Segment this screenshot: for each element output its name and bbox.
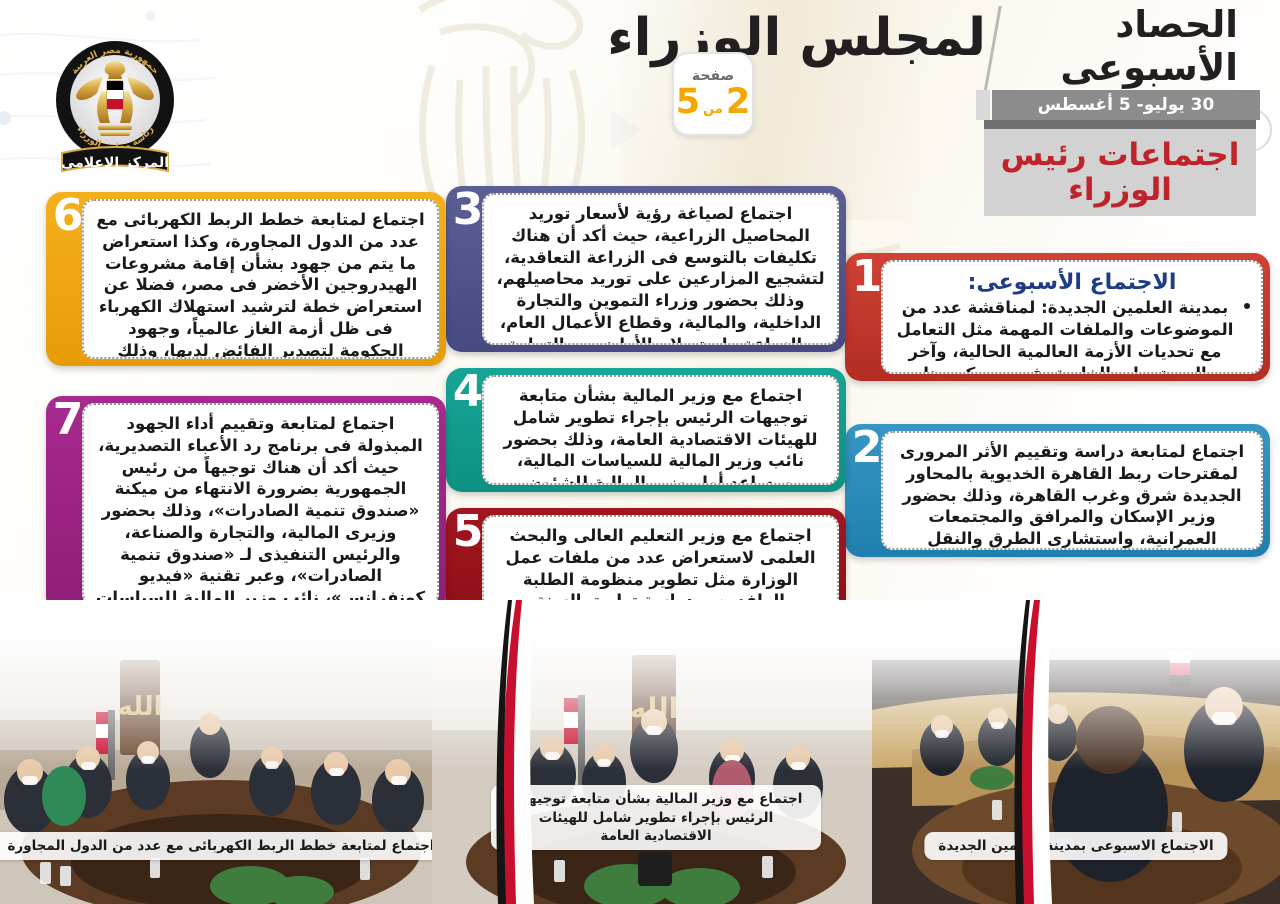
page-title: لمجلس الوزراء — [607, 8, 986, 68]
meeting-card-7-content: اجتماع لمتابعة وتقييم أداء الجهود المبذو… — [82, 403, 439, 606]
page-badge-numbers: 2 من 5 — [676, 85, 750, 120]
svg-text:الله: الله — [117, 692, 162, 722]
meeting-card-5-body: اجتماع مع وزير التعليم العالى والبحث الع… — [495, 525, 826, 611]
meeting-card-1-text: بمدينة العلمين الجديدة: لمناقشة عدد من ا… — [897, 298, 1234, 374]
egypt-eagle-emblem-icon: جمهورية مصر العربية رئاسة مجلس الوزراء — [40, 33, 190, 183]
meeting-card-3-body: اجتماع لصياغة رؤية لأسعار توريد المحاصيل… — [495, 203, 826, 345]
meeting-card-1-body: بمدينة العلمين الجديدة: لمناقشة عدد من ا… — [894, 297, 1250, 374]
meeting-photo-3: الاجتماع الاسبوعى بمدينة العلمين الجديدة — [872, 600, 1280, 904]
meeting-photo-1: الله — [0, 600, 442, 904]
meeting-card-2-body: اجتماع لمتابعة دراسة وتقييم الأثر المرور… — [894, 441, 1250, 550]
meeting-card-1-number: 1 — [850, 255, 884, 299]
page-badge-total: 5 — [676, 85, 700, 120]
meeting-card-6[interactable]: 6 اجتماع لمتابعة خطط الربط الكهربائى مع … — [46, 192, 446, 366]
meeting-card-5-content: اجتماع مع وزير التعليم العالى والبحث الع… — [482, 515, 839, 611]
meeting-card-2-number: 2 — [850, 426, 884, 470]
meeting-card-6-content: اجتماع لمتابعة خطط الربط الكهربائى مع عد… — [82, 199, 439, 359]
photo-2-caption: اجتماع مع وزير المالية بشأن متابعة توجيه… — [491, 785, 821, 850]
meeting-card-4-content: اجتماع مع وزير المالية بشأن متابعة توجيه… — [482, 375, 839, 485]
meeting-card-3[interactable]: 3 اجتماع لصياغة رؤية لأسعار توريد المحاص… — [446, 186, 846, 352]
page-badge-current: 2 — [726, 85, 750, 120]
page-subtitle: الحصاد الأسبوعى — [988, 4, 1238, 89]
meeting-card-1[interactable]: 1 الاجتماع الأسبوعى: بمدينة العلمين الجد… — [845, 253, 1270, 381]
date-range-bar: 30 يوليو- 5 أغسطس — [992, 90, 1260, 120]
meeting-photo-2: الله — [432, 600, 880, 904]
svg-text:المركز الإعلامى: المركز الإعلامى — [61, 155, 169, 171]
meeting-card-6-number: 6 — [51, 194, 85, 238]
page-number-badge: صفحة 2 من 5 — [672, 52, 754, 136]
section-banner: اجتماعات رئيس الوزراء — [984, 120, 1256, 216]
meeting-card-7-number: 7 — [51, 398, 85, 442]
section-title: اجتماعات رئيس الوزراء — [984, 138, 1256, 206]
poster-root: جمهورية مصر العربية رئاسة مجلس الوزراء — [0, 0, 1280, 904]
page-badge-of: من — [703, 103, 723, 116]
bullet-dot-icon — [1244, 303, 1250, 309]
meeting-card-5-number: 5 — [451, 510, 485, 554]
meeting-card-4-number: 4 — [451, 370, 485, 414]
meeting-card-4[interactable]: 4 اجتماع مع وزير المالية بشأن متابعة توج… — [446, 368, 846, 492]
photo-strip: الله — [0, 600, 1280, 904]
cabinet-media-center-logo: جمهورية مصر العربية رئاسة مجلس الوزراء — [40, 33, 190, 183]
meeting-card-3-content: اجتماع لصياغة رؤية لأسعار توريد المحاصيل… — [482, 193, 839, 345]
meeting-card-3-number: 3 — [451, 188, 485, 232]
meeting-card-4-body: اجتماع مع وزير المالية بشأن متابعة توجيه… — [495, 385, 826, 485]
play-triangle-decoration — [595, 100, 655, 160]
photo-3-caption: الاجتماع الاسبوعى بمدينة العلمين الجديدة — [924, 832, 1227, 860]
meeting-card-2-content: اجتماع لمتابعة دراسة وتقييم الأثر المرور… — [881, 431, 1263, 550]
photo-1-caption: اجتماع لمتابعة خطط الربط الكهربائى مع عد… — [0, 832, 442, 860]
meeting-card-7[interactable]: 7 اجتماع لمتابعة وتقييم أداء الجهود المب… — [46, 396, 446, 613]
meeting-card-1-heading: الاجتماع الأسبوعى: — [894, 270, 1250, 295]
meeting-photo-2-image: الله — [432, 600, 880, 904]
meeting-card-6-body: اجتماع لمتابعة خطط الربط الكهربائى مع عد… — [95, 209, 426, 359]
meeting-card-1-content: الاجتماع الأسبوعى: بمدينة العلمين الجديد… — [881, 260, 1263, 374]
meeting-card-2[interactable]: 2 اجتماع لمتابعة دراسة وتقييم الأثر المر… — [845, 424, 1270, 557]
meeting-card-7-body: اجتماع لمتابعة وتقييم أداء الجهود المبذو… — [95, 413, 426, 606]
